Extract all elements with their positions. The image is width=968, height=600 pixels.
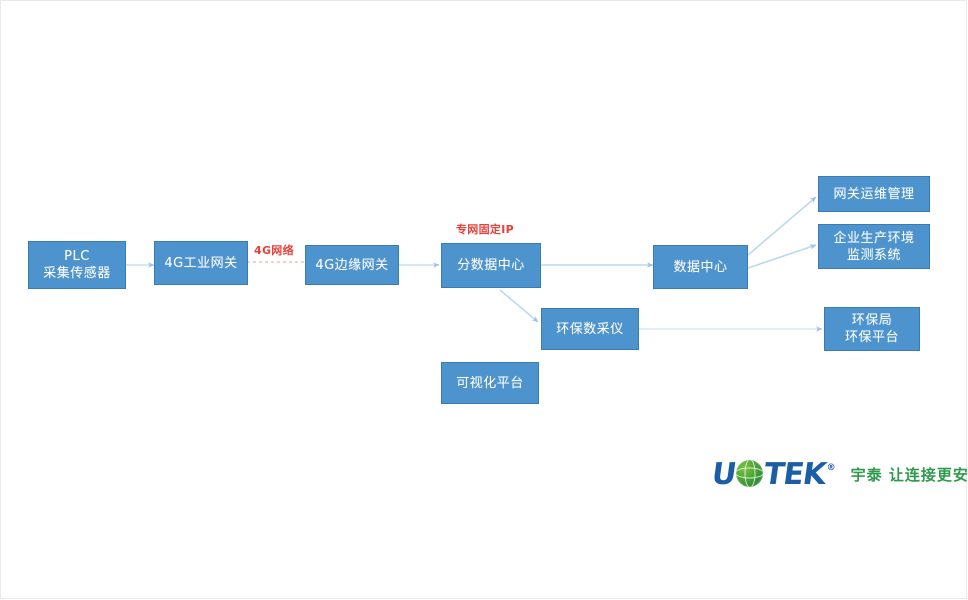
node-env-bureau-platform[interactable]: 环保局 环保平台	[824, 307, 920, 351]
edge-label-4g-network: 4G网络	[254, 242, 294, 258]
node-env-bureau-platform-label: 环保局 环保平台	[842, 312, 902, 346]
logo-wordmark: U TEK ®	[712, 457, 834, 492]
registered-trademark-icon: ®	[827, 463, 835, 473]
node-data-center-label: 数据中心	[670, 259, 730, 276]
node-env-data-collector[interactable]: 环保数采仪	[541, 308, 639, 350]
node-gateway-ops-management-label: 网关运维管理	[830, 186, 917, 203]
logo-letter-u: U	[710, 457, 738, 492]
logo-tagline: 宇泰 让连接更安全	[851, 464, 968, 485]
node-sub-data-center[interactable]: 分数据中心	[441, 243, 541, 288]
node-enterprise-env-monitoring-label: 企业生产环境 监测系统	[830, 230, 917, 264]
node-4g-edge-gateway-label: 4G边缘网关	[312, 257, 391, 274]
edge-label-fixed-ip: 专网固定IP	[456, 221, 514, 237]
node-data-center[interactable]: 数据中心	[653, 245, 748, 289]
node-visualization-platform[interactable]: 可视化平台	[441, 362, 539, 404]
node-plc-label: PLC 采集传感器	[40, 248, 114, 282]
node-env-data-collector-label: 环保数采仪	[553, 321, 627, 338]
connector-subdc-to-envcollect	[500, 290, 538, 322]
uotek-logo: U TEK ® 宇泰 让连接更安全	[712, 452, 948, 496]
node-4g-industrial-gateway-label: 4G工业网关	[161, 255, 240, 272]
node-plc[interactable]: PLC 采集传感器	[28, 241, 126, 289]
node-visualization-platform-label: 可视化平台	[453, 375, 527, 392]
node-4g-industrial-gateway[interactable]: 4G工业网关	[154, 241, 248, 285]
node-4g-edge-gateway[interactable]: 4G边缘网关	[305, 245, 399, 285]
node-enterprise-env-monitoring[interactable]: 企业生产环境 监测系统	[818, 224, 930, 269]
globe-icon	[736, 460, 763, 487]
node-gateway-ops-management[interactable]: 网关运维管理	[818, 176, 930, 212]
connector-layer	[0, 0, 968, 600]
diagram-canvas: PLC 采集传感器 4G工业网关 4G边缘网关 分数据中心 数据中心 网关运维管…	[0, 0, 968, 600]
node-sub-data-center-label: 分数据中心	[454, 257, 528, 274]
logo-letters-tek: TEK	[762, 457, 828, 492]
connector-dc-to-gwops	[748, 197, 816, 255]
slide-frame	[0, 0, 967, 599]
connector-dc-to-envmon	[748, 245, 816, 268]
